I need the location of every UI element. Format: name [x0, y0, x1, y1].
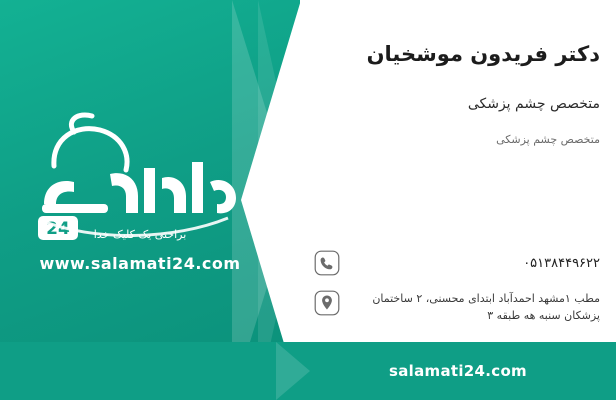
address-row[interactable]: مطب ۱مشهد احمدآباد ابتدای محسنی، ۲ ساختم…: [312, 288, 600, 324]
brand-website: www.salamati24.com: [20, 254, 260, 273]
address-text: مطب ۱مشهد احمدآباد ابتدای محسنی، ۲ ساختم…: [350, 288, 600, 324]
doctor-specialty: متخصص چشم پزشکی: [316, 96, 600, 112]
location-pin-icon: [312, 288, 342, 318]
footer-website[interactable]: salamati24.com: [300, 342, 616, 400]
footer-bar: salamati24.com: [0, 342, 616, 400]
salamati-logo-icon: 24: [14, 108, 264, 248]
business-card: 24 براحتی یک کلیک خدا www.salamati24.com…: [0, 0, 616, 400]
phone-number: ۰۵۱۳۸۴۴۹۶۲۲: [350, 248, 600, 274]
chevron-accent-secondary: [258, 0, 302, 400]
brand-tagline: براحتی یک کلیک خدا: [20, 228, 260, 241]
phone-row[interactable]: ۰۵۱۳۸۴۴۹۶۲۲: [312, 248, 600, 278]
phone-icon: [312, 248, 342, 278]
card-details: دکتر فریدون موشخیان متخصص چشم پزشکی متخص…: [300, 0, 616, 342]
brand-logo: 24 براحتی یک کلیک خدا www.salamati24.com: [14, 108, 264, 283]
doctor-specialty-secondary: متخصص چشم پزشکی: [316, 133, 600, 146]
doctor-name: دکتر فریدون موشخیان: [316, 42, 600, 67]
